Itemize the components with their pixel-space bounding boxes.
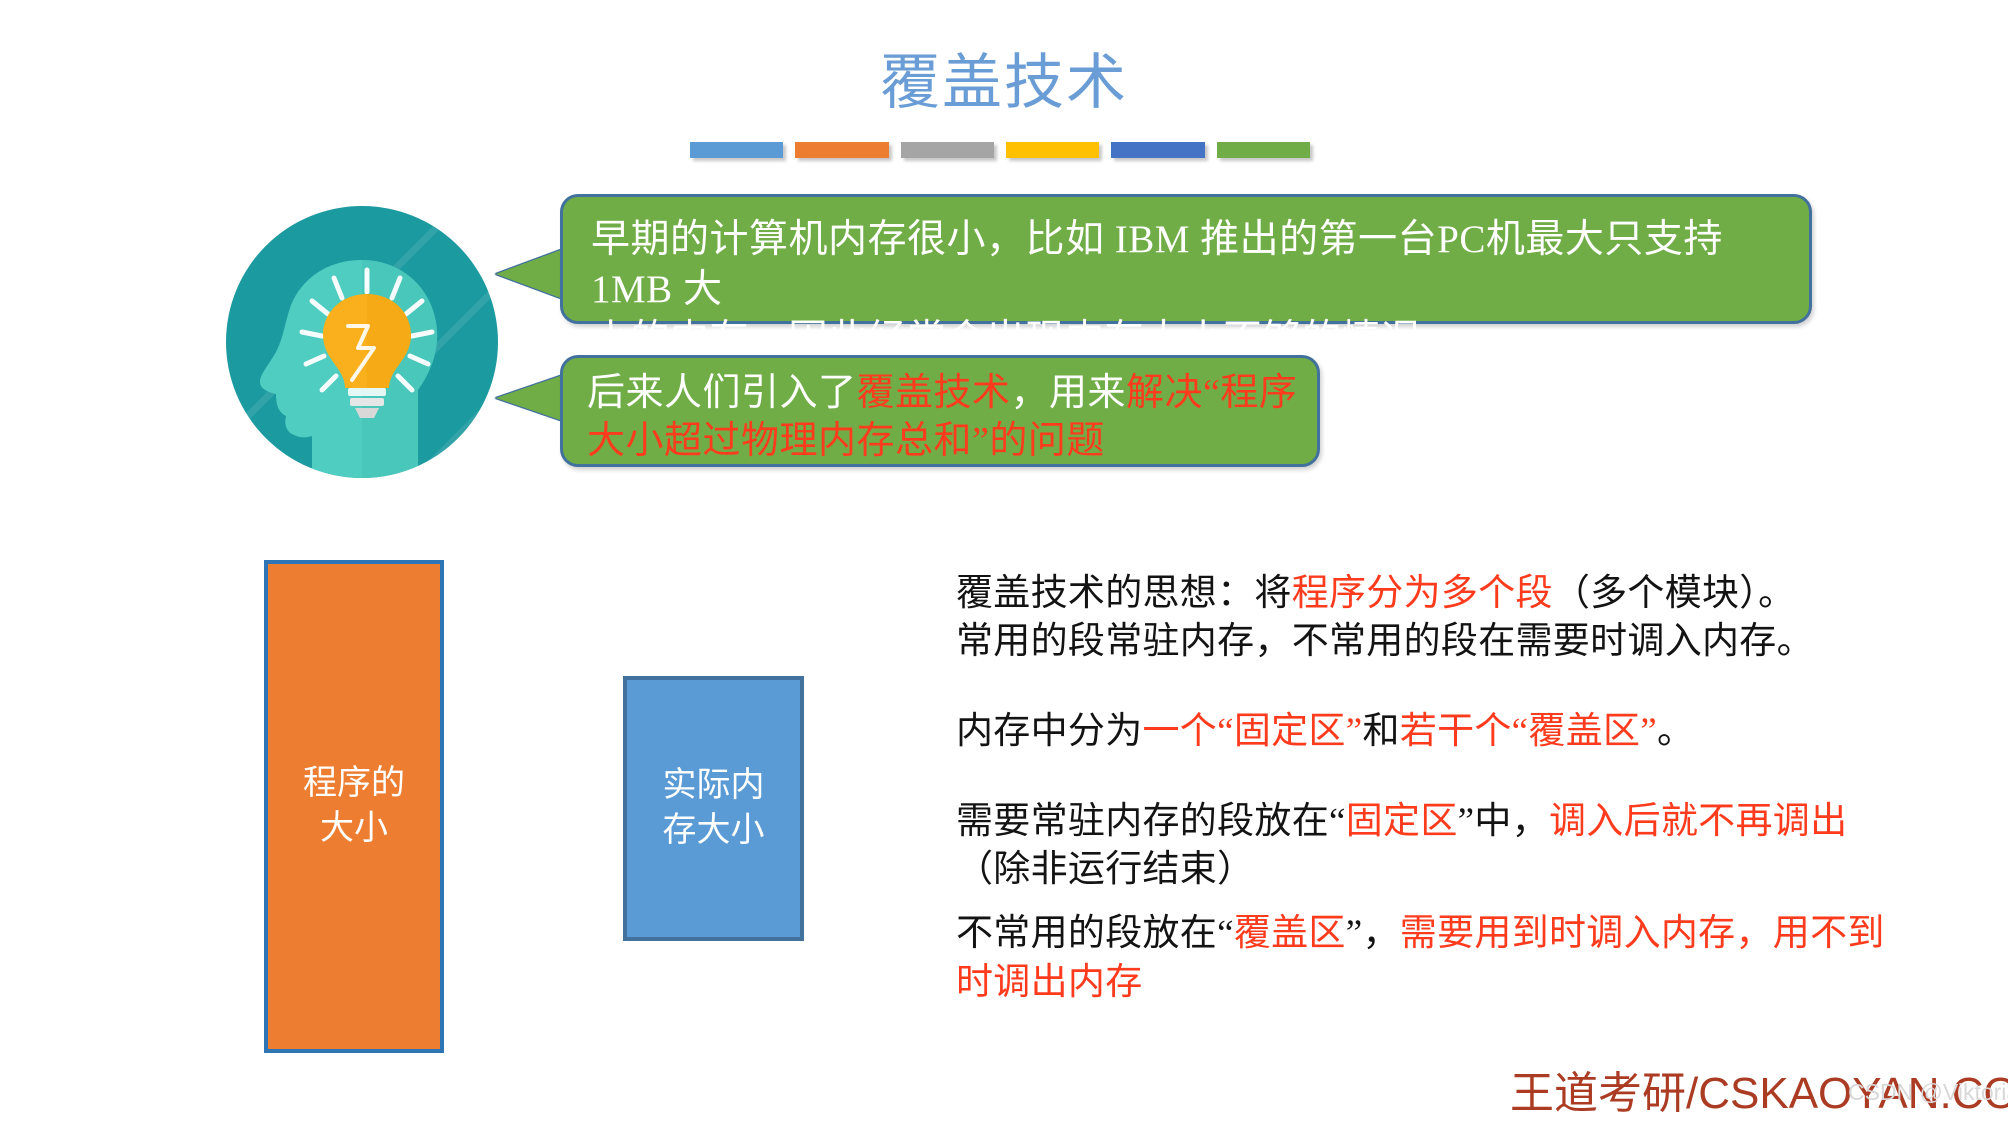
accent-bar-navy xyxy=(1111,142,1204,158)
paragraph-spacer-3 xyxy=(956,894,1896,910)
accent-bar-yellow xyxy=(1006,142,1099,158)
accent-bar-strip xyxy=(690,142,1310,158)
bubble-two-tail xyxy=(496,374,566,422)
head-with-lightbulb-icon xyxy=(222,202,502,482)
p1-plain-2: （多个模块）。 xyxy=(1553,573,1796,614)
p2-plain-2: 和 xyxy=(1362,711,1399,752)
bubble-two-seg-plain-2: ，用来 xyxy=(1011,372,1127,414)
body-text: 覆盖技术的思想：将程序分为多个段（多个模块）。常用的段常驻内存，不常用的段在需要… xyxy=(956,570,1896,1007)
page-title: 覆盖技术 xyxy=(0,52,2008,115)
p2-highlight-1: 一个“固定区” xyxy=(1143,711,1363,752)
paragraph-spacer-2 xyxy=(956,756,1896,798)
actual-memory-label: 实际内 存大小 xyxy=(663,764,765,854)
p4-plain-2: ”， xyxy=(1346,913,1400,954)
p1-plain-3: 常用的段常驻内存，不常用的段在需要时调入内存。 xyxy=(956,621,1814,662)
p2-plain-3: 。 xyxy=(1657,711,1694,752)
bubble-one-line1: 早期的计算机内存很小，比如 IBM 推出的第一台PC机最大只支持 1MB 大 xyxy=(591,218,1723,311)
p1-plain-1: 覆盖技术的思想：将 xyxy=(956,573,1292,614)
body-paragraph-3: 需要常驻内存的段放在“固定区”中，调入后就不再调出（除非运行结束） xyxy=(956,798,1896,894)
p3-highlight-2: 调入后就不再调出 xyxy=(1549,801,1847,842)
accent-bar-green xyxy=(1217,142,1310,158)
p3-highlight-1: 固定区 xyxy=(1346,801,1458,842)
accent-bar-gray xyxy=(901,142,994,158)
bubble-one-text: 早期的计算机内存很小，比如 IBM 推出的第一台PC机最大只支持 1MB 大 小… xyxy=(563,197,1809,365)
program-size-block: 程序的 大小 xyxy=(264,560,444,1053)
csdn-watermark: CSDN @Viktoriae xyxy=(1848,1079,2008,1106)
actual-memory-label-line2: 存大小 xyxy=(663,809,765,854)
p3-plain-3: （除非运行结束） xyxy=(956,849,1254,890)
bubble-two-seg-highlight-1: 覆盖技术 xyxy=(857,372,1011,414)
p2-highlight-2: 若干个“覆盖区” xyxy=(1400,711,1657,752)
body-paragraph-2: 内存中分为一个“固定区”和若干个“覆盖区”。 xyxy=(956,708,1896,756)
p4-plain-1: 不常用的段放在“ xyxy=(956,913,1234,954)
bubble-one-tail xyxy=(496,248,566,300)
accent-bar-orange xyxy=(795,142,888,158)
program-size-label-line2: 大小 xyxy=(303,807,405,852)
body-paragraph-1: 覆盖技术的思想：将程序分为多个段（多个模块）。常用的段常驻内存，不常用的段在需要… xyxy=(956,570,1896,666)
accent-bar-blue xyxy=(690,142,783,158)
program-size-label: 程序的 大小 xyxy=(303,762,405,852)
actual-memory-block: 实际内 存大小 xyxy=(623,676,804,941)
program-size-label-line1: 程序的 xyxy=(303,762,405,807)
bubble-two-seg-plain-1: 后来人们引入了 xyxy=(587,372,857,414)
paragraph-spacer-1 xyxy=(956,666,1896,708)
body-paragraph-4: 不常用的段放在“覆盖区”，需要用到时调入内存，用不到时调出内存 xyxy=(956,910,1896,1006)
callout-bubble-overlay-tech: 后来人们引入了覆盖技术，用来解决“程序大小超过物理内存总和”的问题 xyxy=(560,355,1320,467)
p3-plain-1: 需要常驻内存的段放在“ xyxy=(956,801,1346,842)
p4-highlight-1: 覆盖区 xyxy=(1234,913,1346,954)
p1-highlight-1: 程序分为多个段 xyxy=(1292,573,1553,614)
actual-memory-label-line1: 实际内 xyxy=(663,764,765,809)
bubble-two-text: 后来人们引入了覆盖技术，用来解决“程序大小超过物理内存总和”的问题 xyxy=(563,358,1317,465)
callout-bubble-intro: 早期的计算机内存很小，比如 IBM 推出的第一台PC机最大只支持 1MB 大 小… xyxy=(560,194,1812,324)
p3-plain-2: ”中， xyxy=(1458,801,1549,842)
p2-plain-1: 内存中分为 xyxy=(956,711,1143,752)
